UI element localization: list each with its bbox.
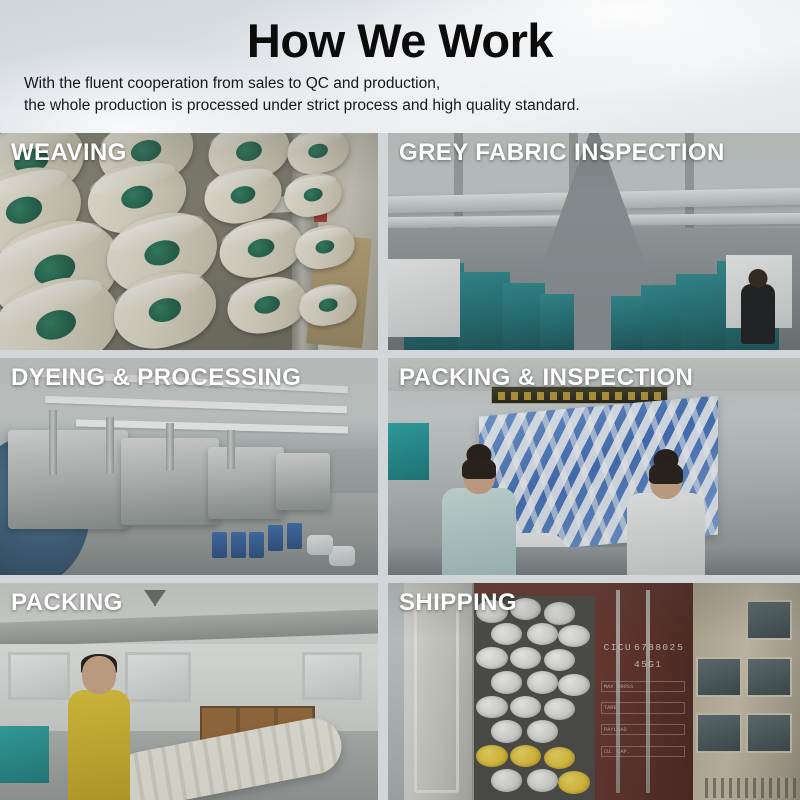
container-serial: 678802 xyxy=(634,642,677,653)
page-header: How We Work With the fluent cooperation … xyxy=(0,0,800,133)
factory-worker xyxy=(741,284,775,344)
dye-barrel xyxy=(231,532,246,558)
container-plate: MAX GROSS xyxy=(601,681,685,692)
cargo-roll xyxy=(527,671,558,693)
cargo-roll-yellow xyxy=(558,771,589,793)
container-plate: TARE xyxy=(601,702,685,713)
building-window xyxy=(746,657,792,697)
building-window xyxy=(746,600,792,640)
cargo-roll xyxy=(476,696,507,718)
container-type-code: 45G1 xyxy=(634,659,662,670)
pendant-lamp-icon xyxy=(144,590,166,606)
cargo-roll xyxy=(544,649,575,671)
dye-barrel xyxy=(268,525,283,551)
overhead-pipe xyxy=(227,430,235,469)
cargo-roll xyxy=(544,602,575,624)
subtitle-line-1: With the fluent cooperation from sales t… xyxy=(24,75,440,92)
panel-label-packing-inspection: PACKING & INSPECTION xyxy=(399,365,693,391)
container-plate: PAYLOAD xyxy=(601,724,685,735)
cargo-roll xyxy=(491,623,522,645)
container-door-closed: CICU 678802 5 45G1 MAX GROSS TARE PAYLOA… xyxy=(595,583,693,800)
building-window xyxy=(696,657,742,697)
worker-head xyxy=(82,656,116,694)
cargo-roll-yellow xyxy=(544,747,575,769)
cargo-roll xyxy=(558,625,589,647)
page-subtitle: With the fluent cooperation from sales t… xyxy=(0,73,800,117)
wall-window xyxy=(125,652,191,702)
cargo-roll-yellow xyxy=(510,745,541,767)
dye-barrel xyxy=(212,532,227,558)
page-title: How We Work xyxy=(0,0,800,64)
dyeing-vessel xyxy=(276,453,330,509)
panel-dyeing-processing[interactable]: DYEING & PROCESSING xyxy=(0,358,378,575)
cargo-roll xyxy=(510,696,541,718)
panel-packing-inspection[interactable]: PACKING & INSPECTION xyxy=(388,358,800,575)
panel-label-dyeing-processing: DYEING & PROCESSING xyxy=(11,365,301,391)
inspection-machine xyxy=(676,274,726,350)
dyeing-vessel xyxy=(208,447,284,519)
cargo-roll xyxy=(558,674,589,696)
plate-label: TARE xyxy=(604,704,617,711)
cargo-roll xyxy=(527,623,558,645)
panel-shipping[interactable]: CICU 678802 5 45G1 MAX GROSS TARE PAYLOA… xyxy=(388,583,800,800)
panel-label-weaving: WEAVING xyxy=(11,140,127,166)
packing-worker xyxy=(68,690,130,800)
cargo-roll xyxy=(527,769,558,791)
packing-bin xyxy=(0,726,49,782)
cargo-roll-yellow xyxy=(476,745,507,767)
how-we-work-page: How We Work With the fluent cooperation … xyxy=(0,0,800,800)
material-sack xyxy=(329,546,355,566)
container-check-digit: 5 xyxy=(677,642,684,653)
building-window xyxy=(696,713,742,753)
inspection-machine xyxy=(503,283,545,350)
wall-window xyxy=(302,652,362,700)
process-grid: WEAVING xyxy=(0,133,800,800)
overhead-pipe xyxy=(49,410,57,475)
inspection-machine xyxy=(611,296,643,350)
subtitle-line-2: the whole production is processed under … xyxy=(24,95,800,117)
cargo-roll xyxy=(527,720,558,742)
cargo-roll xyxy=(476,647,507,669)
panel-packing[interactable]: PACKING xyxy=(0,583,378,800)
container-plate: CU. CAP. xyxy=(601,746,685,757)
panel-label-shipping: SHIPPING xyxy=(399,590,517,616)
dye-barrel xyxy=(249,532,264,558)
plate-label: CU. CAP. xyxy=(604,748,630,755)
fabric-roll xyxy=(388,259,460,337)
panel-label-packing: PACKING xyxy=(11,590,123,616)
dye-barrel xyxy=(287,523,302,549)
worker-hair xyxy=(462,457,496,479)
material-sack xyxy=(307,535,333,555)
overhead-pipe xyxy=(166,423,174,471)
panel-grey-fabric-inspection[interactable]: GREY FABRIC INSPECTION xyxy=(388,133,800,350)
overhead-pipe xyxy=(106,417,114,473)
inspection-machine xyxy=(641,285,681,350)
panel-label-grey-fabric-inspection: GREY FABRIC INSPECTION xyxy=(399,140,725,166)
inspection-machine xyxy=(540,294,574,350)
panel-weaving[interactable]: WEAVING xyxy=(0,133,378,350)
plate-label: MAX GROSS xyxy=(604,683,634,690)
wall-window xyxy=(8,652,70,700)
plate-label: PAYLOAD xyxy=(604,726,627,733)
teal-panel xyxy=(388,423,429,479)
container-owner-code: CICU xyxy=(604,642,632,653)
site-fence xyxy=(705,778,796,798)
cargo-roll xyxy=(510,647,541,669)
cargo-roll xyxy=(491,720,522,742)
cargo-roll xyxy=(544,698,575,720)
cargo-roll xyxy=(491,671,522,693)
container-cargo xyxy=(474,596,595,800)
worker-hair xyxy=(649,462,683,484)
cargo-roll xyxy=(491,769,522,791)
building-window xyxy=(746,713,792,753)
worker-right xyxy=(627,493,705,575)
inspection-machine xyxy=(458,272,510,350)
worker-left xyxy=(442,488,516,575)
